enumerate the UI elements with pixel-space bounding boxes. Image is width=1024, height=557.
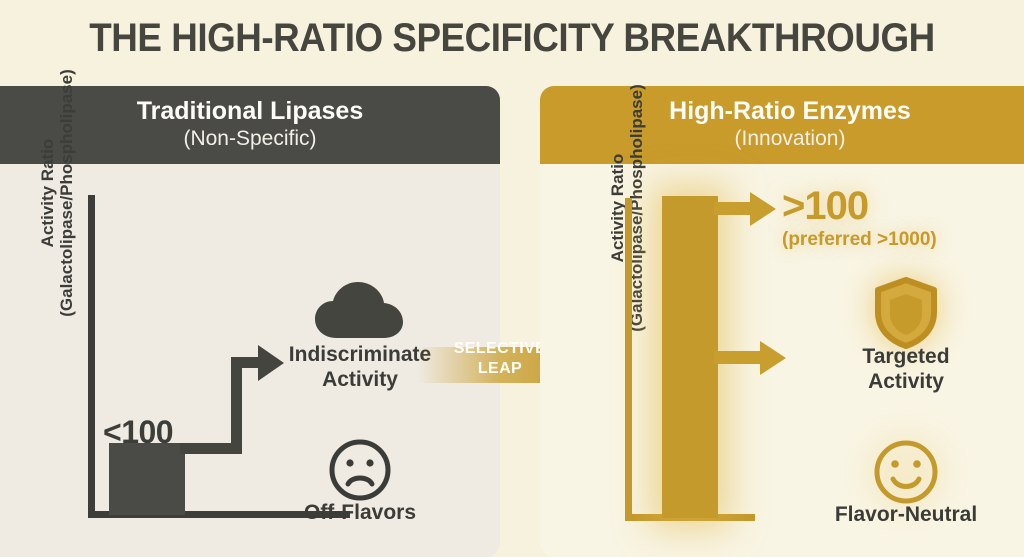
right-bar	[662, 196, 718, 518]
left-bar	[109, 443, 185, 515]
left-panel-subtitle: (Non-Specific)	[183, 126, 316, 152]
right-mid-arrow-head-icon	[760, 341, 786, 375]
right-mid-arrow-shaft	[714, 351, 766, 364]
right-outcome-1-caption-line2: Activity	[800, 369, 1012, 394]
smiley-face-icon	[872, 438, 940, 506]
right-bar-value-note: (preferred >1000)	[782, 229, 937, 251]
left-y-axis	[88, 195, 95, 517]
high-ratio-enzymes-panel: High-Ratio Enzymes (Innovation)	[540, 86, 1024, 557]
right-y-axis	[625, 198, 632, 520]
left-panel-title: Traditional Lipases	[137, 98, 363, 124]
page-title: THE HIGH-RATIO SPECIFICITY BREAKTHROUGH	[41, 8, 983, 68]
right-outcome-1-caption-line1: Targeted	[800, 344, 1012, 369]
sad-face-icon	[328, 438, 392, 502]
left-outcome-2-caption: Off-Flavors	[260, 500, 460, 525]
right-panel-title: High-Ratio Enzymes	[669, 98, 911, 124]
right-panel-subtitle: (Innovation)	[735, 126, 846, 152]
right-bar-value-label: >100	[782, 184, 868, 229]
traditional-lipases-panel: Traditional Lipases (Non-Specific)	[0, 86, 500, 557]
right-outcome-2-caption: Flavor-Neutral	[800, 502, 1012, 527]
left-bar-value-label: <100	[103, 414, 173, 451]
shield-icon	[873, 276, 939, 350]
right-top-arrow-head-icon	[750, 192, 776, 226]
cloud-icon	[313, 278, 407, 340]
left-panel-header: Traditional Lipases (Non-Specific)	[0, 86, 500, 164]
left-elbow-arrow-segment-2	[231, 357, 242, 454]
right-outcome-1-caption: Targeted Activity	[800, 344, 1012, 394]
right-panel-header: High-Ratio Enzymes (Innovation)	[540, 86, 1024, 164]
